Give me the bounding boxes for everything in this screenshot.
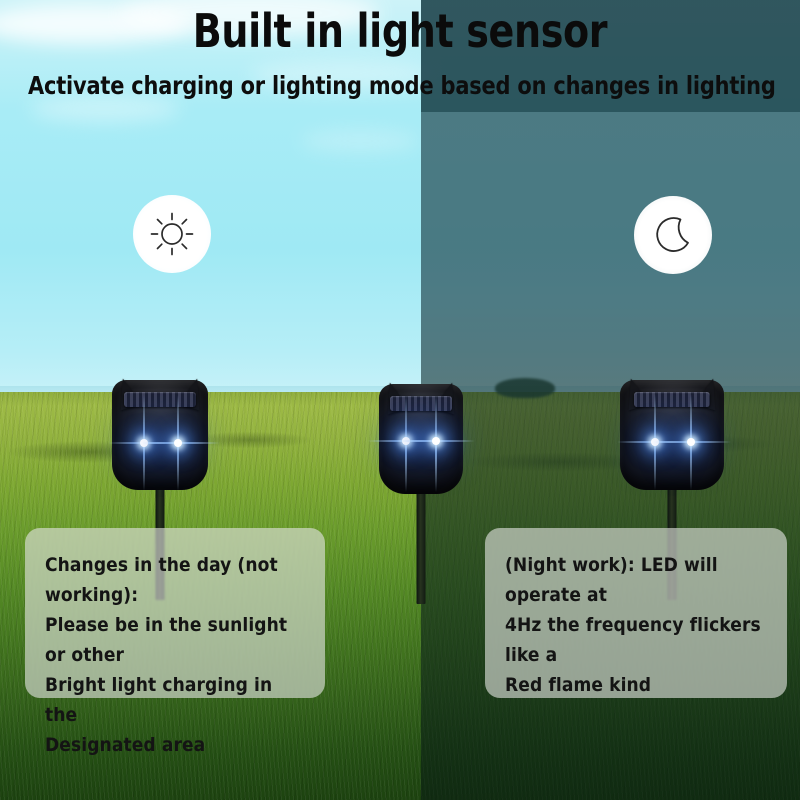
lamp-body — [620, 380, 724, 490]
lamp-body — [379, 384, 463, 494]
product-feature-poster: Built in light sensor Activate charging … — [0, 0, 800, 800]
ground-stake — [417, 484, 426, 604]
page-subtitle: Activate charging or lighting mode based… — [28, 70, 772, 102]
led-eye-left — [402, 437, 410, 445]
moon-icon — [651, 213, 695, 257]
background-bush — [495, 378, 555, 398]
night-mode-caption-text: (Night work): LED will operate at 4Hz th… — [505, 550, 767, 700]
solar-panel — [124, 392, 195, 407]
solar-panel — [634, 392, 711, 407]
lamp-body — [112, 380, 208, 490]
led-eye-left — [140, 439, 148, 447]
solar-panel — [390, 396, 452, 411]
night-mode-badge — [634, 196, 712, 274]
led-eye-left — [651, 438, 659, 446]
led-eye-right — [432, 437, 440, 445]
day-mode-caption: Changes in the day (not working): Please… — [25, 528, 325, 698]
night-mode-caption: (Night work): LED will operate at 4Hz th… — [485, 528, 787, 698]
sun-icon — [149, 211, 195, 257]
solar-lamp-center — [379, 366, 463, 596]
day-mode-badge — [133, 195, 211, 273]
page-title: Built in light sensor — [32, 2, 768, 60]
led-eye-right — [174, 439, 182, 447]
led-eye-right — [687, 438, 695, 446]
day-mode-caption-text: Changes in the day (not working): Please… — [45, 550, 305, 760]
cloud — [300, 130, 420, 152]
